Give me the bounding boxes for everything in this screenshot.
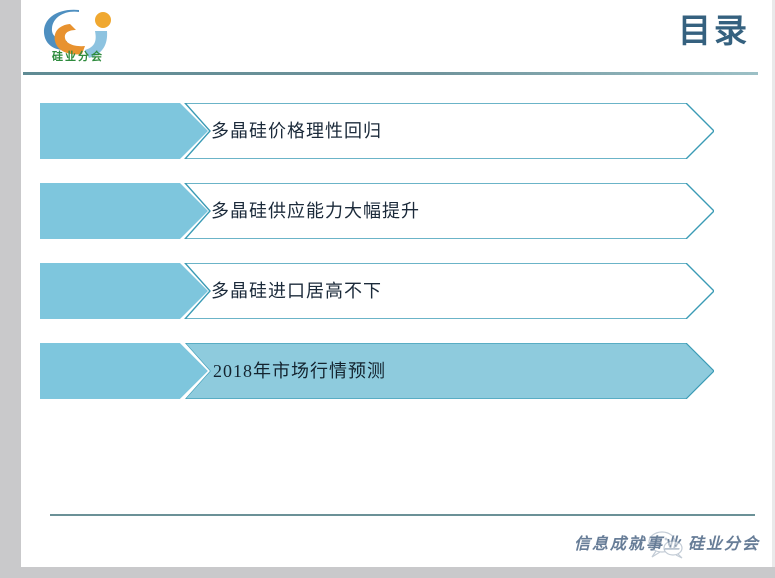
viewer-bottom-bar [0,567,775,578]
toc-item-label: 多晶硅供应能力大幅提升 [211,183,420,239]
footer-tagline: 信息成就事业 硅业分会 [574,530,760,554]
toc-item-4[interactable]: 2018年市场行情预测 [21,335,772,415]
footer-divider [50,514,755,516]
toc-item-label: 多晶硅进口居高不下 [211,263,382,319]
header-divider [23,72,758,75]
toc-item-2[interactable]: 多晶硅供应能力大幅提升 [21,175,772,255]
page-title: 目录 [678,16,750,49]
slide-viewer: 硅业分会 目录 多晶硅价格理性回归 [0,0,775,578]
toc-list: 多晶硅价格理性回归 多晶硅供应能力大幅提升 [21,95,772,415]
toc-item-label: 2018年市场行情预测 [213,343,386,399]
viewer-left-bar [0,0,21,578]
slide-canvas: 硅业分会 目录 多晶硅价格理性回归 [21,0,772,567]
toc-item-1[interactable]: 多晶硅价格理性回归 [21,95,772,175]
logo-caption: 硅业分会 [29,48,127,64]
toc-item-3[interactable]: 多晶硅进口居高不下 [21,255,772,335]
toc-item-label: 多晶硅价格理性回归 [211,103,382,159]
